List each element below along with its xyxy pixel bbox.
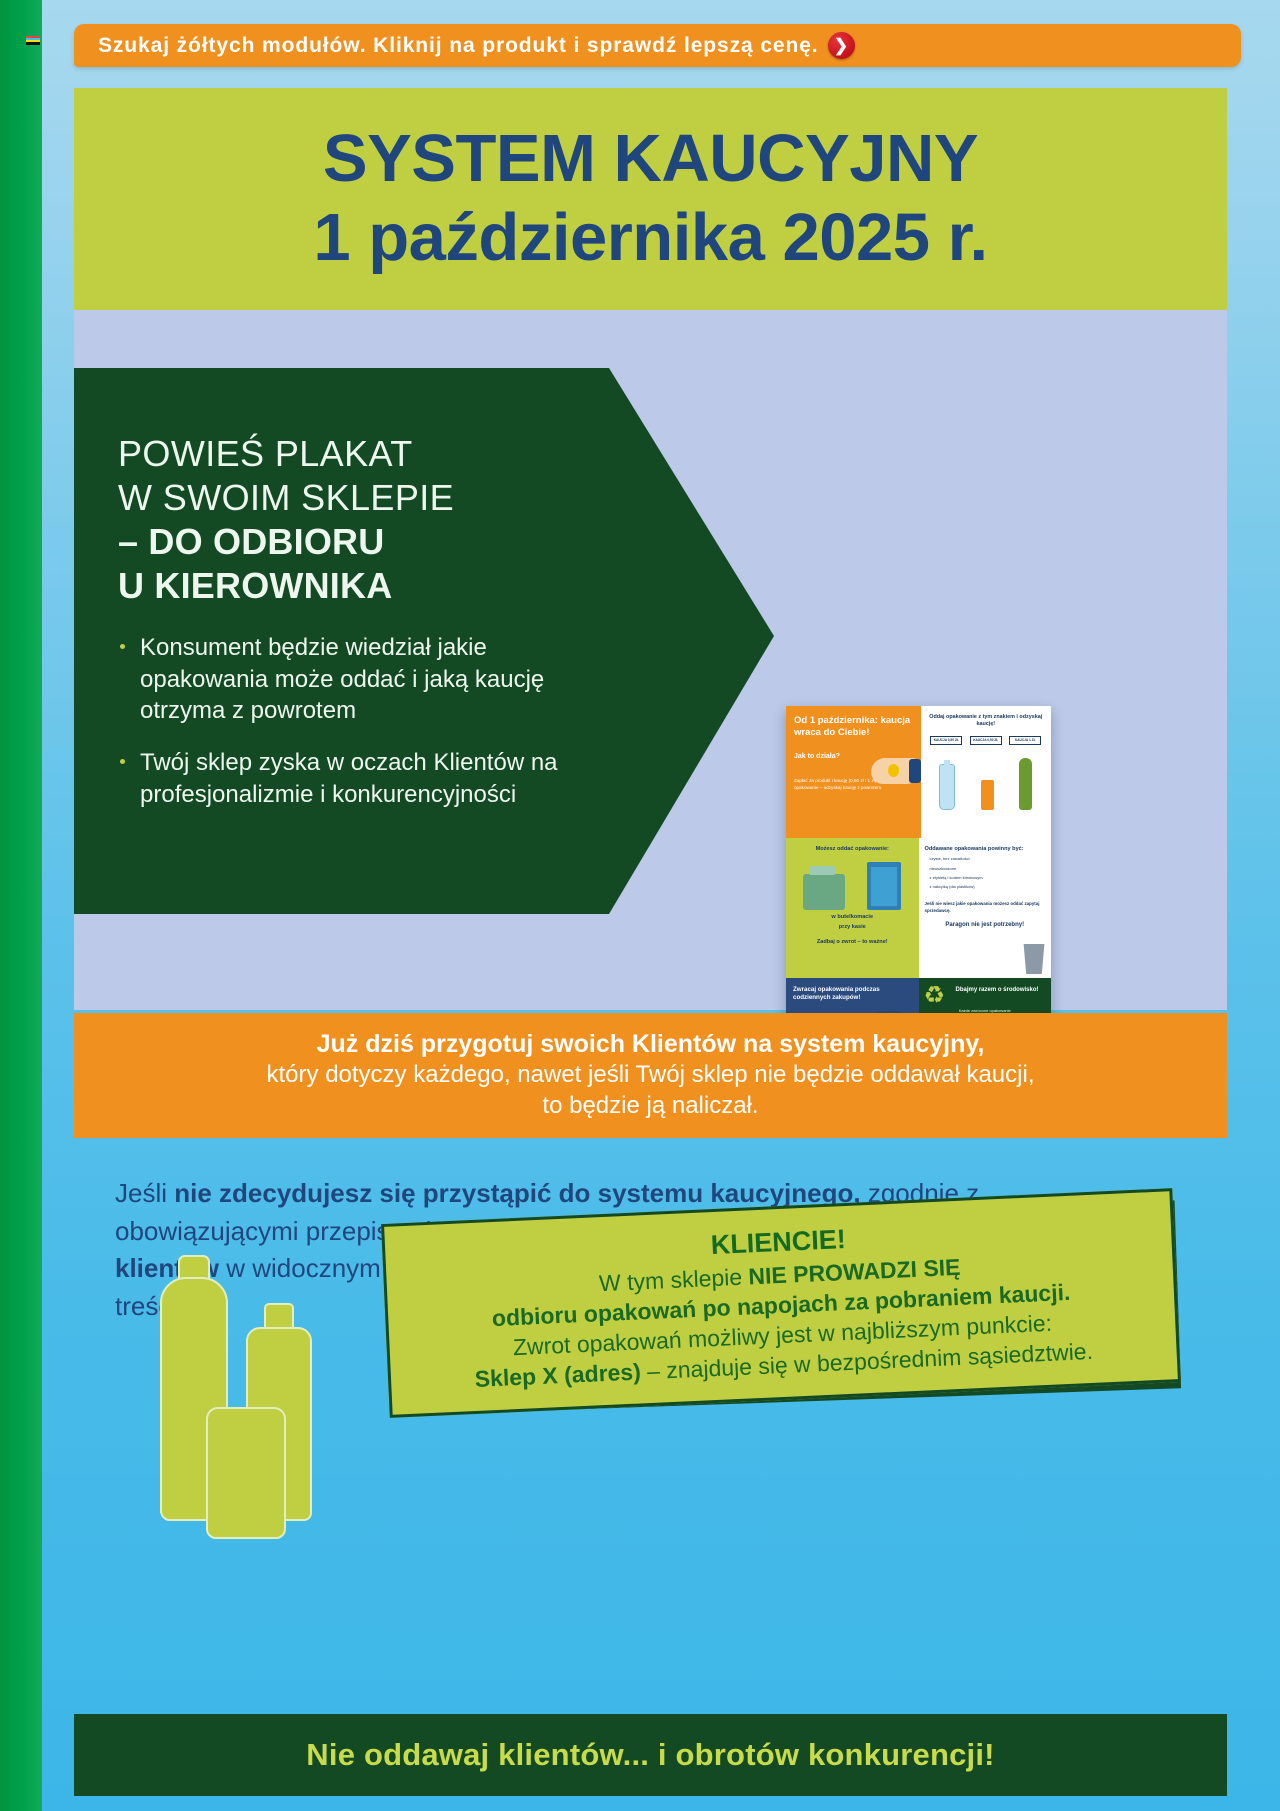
poster-row-middle: Możesz oddać opakowanie: w butelkomacie … [786, 838, 1051, 978]
list-item: nieuszkodzone [925, 866, 1046, 872]
poster-white-top-headline: Oddaj opakowanie z tym znakiem i odzyska… [927, 714, 1046, 729]
left-green-spine [0, 0, 42, 1811]
poster-row-top: Od 1 października: kaucja wraca do Ciebi… [786, 706, 1051, 838]
reverse-vending-machine-icon [867, 862, 901, 910]
footer-banner: Nie oddawaj klientów... i obrotów konkur… [74, 1714, 1227, 1796]
promo-ribbon[interactable]: Szukaj żółtych modułów. Kliknij na produ… [74, 24, 1241, 67]
paragraph-text-1: Jeśli [115, 1178, 174, 1208]
poster-white-mid-highlight: Paragon nie jest potrzebny! [925, 922, 1046, 930]
cta-banner: Już dziś przygotuj swoich Klientów na sy… [74, 1013, 1227, 1138]
notice-card-title: KLIENCIE! [710, 1224, 846, 1261]
paragraph-bold-1: nie zdecydujesz się przystąpić do system… [174, 1178, 860, 1208]
callout-heading-line3: – DO ODBIORU [118, 520, 774, 564]
page-title: SYSTEM KAUCYJNY 1 października 2025 r. [74, 88, 1227, 310]
poster-orange-panel: Od 1 października: kaucja wraca do Ciebi… [786, 706, 921, 838]
recycle-icon: ♻ [924, 985, 950, 1009]
footer-text: Nie oddawaj klientów... i obrotów konkur… [306, 1737, 994, 1773]
deposit-tag: KAUCJA 0,50 ZŁ [970, 736, 1002, 746]
list-item: z nakrętką (dla plastików) [925, 884, 1046, 890]
pet-bottle-icon [939, 764, 955, 810]
list-item: czyste, bez zawartości [925, 856, 1046, 862]
cash-register-icon [803, 874, 845, 910]
poster-lime-headline: Możesz oddać opakowanie: [792, 846, 913, 852]
deposit-tag-row: KAUCJA 0,50 ZŁ KAUCJA 0,50 ZŁ KAUCJA 1 Z… [927, 736, 1046, 746]
cta-line3: to będzie ją naliczał. [542, 1090, 758, 1121]
page-background: Szukaj żółtych modułów. Kliknij na produ… [0, 0, 1280, 1811]
page-title-line2: 1 października 2025 r. [313, 203, 987, 273]
glass-bottle-icon [1019, 758, 1032, 810]
list-item: Konsument będzie wiedział jakie opakowan… [120, 632, 570, 728]
trash-bin-icon [1021, 944, 1047, 974]
list-item: z etykietą i kodem kreskowym [925, 875, 1046, 881]
poster-white-mid-panel: Oddawane opakowania powinny być: czyste,… [919, 838, 1052, 978]
can-icon [981, 780, 994, 810]
callout-bullet-list: Konsument będzie wiedział jakie opakowan… [74, 632, 774, 812]
deposit-tag: KAUCJA 0,50 ZŁ [930, 736, 962, 746]
return-method-icons [792, 858, 913, 910]
page-title-line1: SYSTEM KAUCYJNY [323, 125, 978, 193]
promo-ribbon-text: Szukaj żółtych modułów. Kliknij na produ… [74, 34, 819, 58]
packaging-illustration [150, 1255, 410, 1545]
poster-callout-block: POWIEŚ PLAKAT W SWOIM SKLEPIE – DO ODBIO… [74, 368, 774, 914]
coin-icon [888, 764, 899, 777]
notice-card-line2-a: W tym sklepie [598, 1263, 749, 1296]
packaging-row [927, 752, 1046, 810]
cta-line1: Już dziś przygotuj swoich Klientów na sy… [317, 1030, 985, 1059]
list-item: Twój sklep zyska w oczach Klientów na pr… [120, 747, 570, 811]
poster-white-mid-note: Jeśli nie wiesz jakie opakowania możesz … [925, 900, 1046, 914]
poster-white-top-panel: Oddaj opakowanie z tym znakiem i odzyska… [921, 706, 1052, 838]
callout-heading-line1: POWIEŚ PLAKAT [118, 432, 774, 476]
color-bar-mark-icon [26, 36, 40, 45]
poster-lime-rvm-label: w butelkomacie [792, 914, 913, 920]
callout-heading: POWIEŚ PLAKAT W SWOIM SKLEPIE – DO ODBIO… [74, 368, 774, 608]
poster-navy-headline: Zwracaj opakowania podczas codziennych z… [793, 986, 912, 1003]
mid-panel: POWIEŚ PLAKAT W SWOIM SKLEPIE – DO ODBIO… [74, 310, 1227, 1010]
poster-lime-panel: Możesz oddać opakowanie: w butelkomacie … [786, 838, 919, 978]
notice-card-line5-a: Sklep X (adres) [474, 1358, 641, 1392]
poster-orange-headline: Od 1 października: kaucja wraca do Ciebi… [794, 715, 913, 739]
callout-heading-line2: W SWOIM SKLEPIE [118, 476, 774, 520]
notice-card-line2-b: NIE PROWADZI SIĘ [748, 1254, 961, 1290]
callout-heading-line4: U KIEROWNIKA [118, 564, 774, 608]
poster-lime-footer: Zadbaj o zwrot – to ważne! [792, 939, 913, 945]
notice-card: KLIENCIE! W tym sklepie NIE PROWADZI SIĘ… [381, 1188, 1181, 1418]
poster-white-mid-headline: Oddawane opakowania powinny być: [925, 846, 1046, 853]
cta-line2: który dotyczy każdego, nawet jeśli Twój … [267, 1059, 1035, 1090]
deposit-tag: KAUCJA 1 ZŁ [1009, 736, 1041, 746]
can-icon [206, 1407, 286, 1539]
poster-lime-till-label: przy kasie [792, 924, 913, 930]
chevron-right-icon[interactable]: ❯ [828, 32, 855, 59]
